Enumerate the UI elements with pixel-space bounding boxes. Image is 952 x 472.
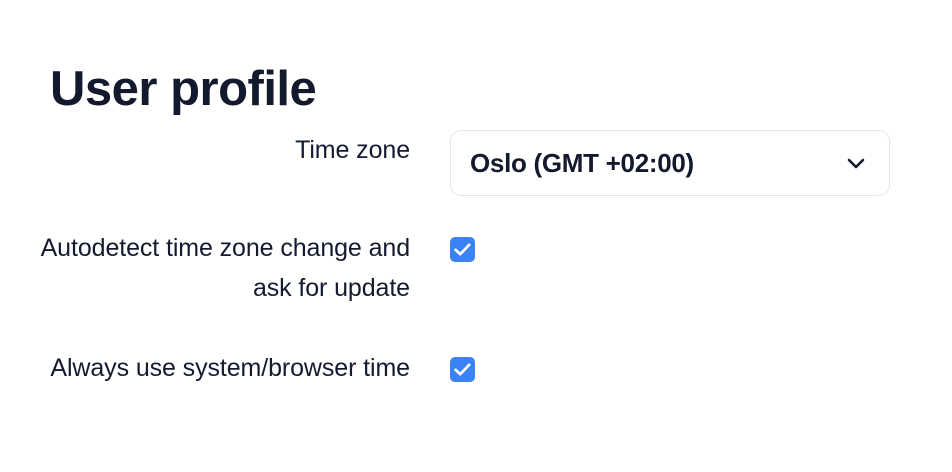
checkmark-icon [450,357,475,382]
system-browser-time-control [450,348,952,382]
checkmark-icon [450,237,475,262]
chevron-down-icon [843,150,869,176]
autodetect-time-zone-control [450,228,952,262]
time-zone-select-value: Oslo (GMT +02:00) [470,148,694,179]
time-zone-select[interactable]: Oslo (GMT +02:00) [450,130,890,196]
form-row-system-browser-time: Always use system/browser time [0,348,952,388]
system-browser-time-checkbox[interactable] [450,357,475,382]
user-profile-page: User profile Time zone Oslo (GMT +02:00)… [0,0,952,472]
page-title: User profile [50,61,316,119]
system-browser-time-label: Always use system/browser time [0,348,410,388]
form-row-time-zone: Time zone Oslo (GMT +02:00) [0,130,952,196]
time-zone-control: Oslo (GMT +02:00) [450,130,952,196]
form-row-autodetect-time-zone: Autodetect time zone change and ask for … [0,228,952,308]
autodetect-time-zone-label: Autodetect time zone change and ask for … [0,228,410,308]
time-zone-label: Time zone [0,130,410,170]
autodetect-time-zone-checkbox[interactable] [450,237,475,262]
